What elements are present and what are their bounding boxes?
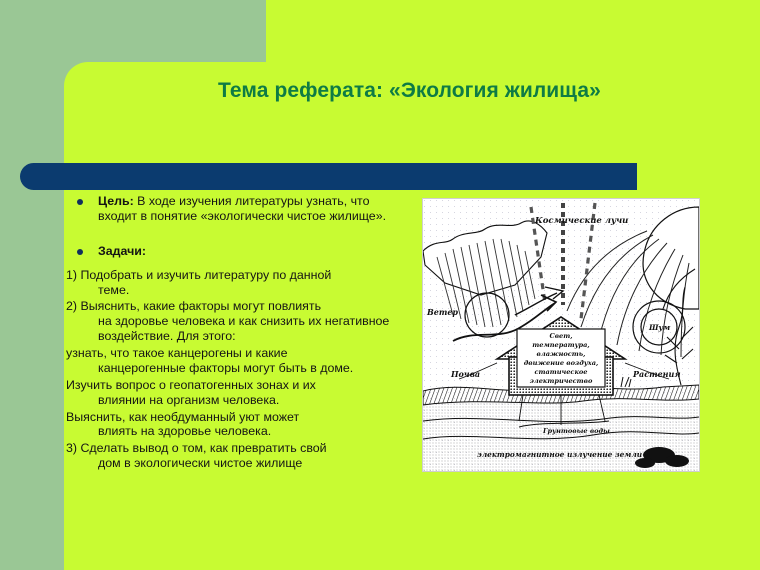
task-item-6-rest: дом в экологически чистое жилище <box>66 456 411 471</box>
goal-bullet-item: Цель: В ходе изучения литературы узнать,… <box>66 194 411 224</box>
svg-text:Свет,: Свет, <box>549 332 572 340</box>
tasks-bullet-item: Задачи: <box>66 244 411 259</box>
task-item-1-rest: теме. <box>66 283 411 298</box>
page-title: Тема реферата: «Экология жилища» <box>218 78 648 105</box>
task-item-3: узнать, что такое канцерогены и какие ка… <box>66 346 411 376</box>
tasks-label: Задачи: <box>98 244 146 258</box>
label-cosmic-rays: Космические лучи <box>534 216 628 226</box>
task-item-3-first: узнать, что такое канцерогены и какие <box>66 346 287 360</box>
slide-root: Тема реферата: «Экология жилища» Цель: В… <box>0 0 760 570</box>
task-item-1: 1) Подобрать и изучить литературу по дан… <box>66 268 411 298</box>
ecology-diagram-svg: Космические лучи Ветер Шум <box>423 199 699 471</box>
task-item-5-first: Выяснить, как необдуманный уют может <box>66 410 299 424</box>
label-wind: Ветер <box>426 307 458 317</box>
task-item-4-rest: влиянии на организм человека. <box>66 393 411 408</box>
task-item-6-first: 3) Сделать вывод о том, как превратить с… <box>66 441 327 455</box>
svg-text:статическое: статическое <box>534 368 587 376</box>
task-item-6: 3) Сделать вывод о том, как превратить с… <box>66 441 411 471</box>
task-item-4: Изучить вопрос о геопатогенных зонах и и… <box>66 378 411 408</box>
svg-text:электричество: электричество <box>530 377 593 385</box>
label-soil: Почва <box>450 369 480 379</box>
goal-text: В ходе изучения литературы узнать, что в… <box>98 194 386 223</box>
task-item-2-first: 2) Выяснить, какие факторы могут повлият… <box>66 299 321 313</box>
body-text-column: Цель: В ходе изучения литературы узнать,… <box>66 194 411 473</box>
task-item-1-first: 1) Подобрать и изучить литературу по дан… <box>66 268 331 282</box>
task-item-5-rest: влиять на здоровье человека. <box>66 424 411 439</box>
task-item-2-rest: на здоровье человека и как снизить их не… <box>66 314 411 344</box>
bullet-dot-icon <box>77 199 83 205</box>
background-sage-block <box>0 0 266 62</box>
task-item-5: Выяснить, как необдуманный уют может вли… <box>66 410 411 440</box>
task-item-2: 2) Выяснить, какие факторы могут повлият… <box>66 299 411 344</box>
task-item-4-first: Изучить вопрос о геопатогенных зонах и и… <box>66 378 316 392</box>
ecology-diagram-image: Космические лучи Ветер Шум <box>422 198 700 472</box>
svg-text:движение воздуха,: движение воздуха, <box>524 359 599 367</box>
task-item-3-rest: канцерогенные факторы могут быть в доме. <box>66 361 411 376</box>
title-divider-bar <box>20 163 637 190</box>
svg-text:температура,: температура, <box>532 341 589 349</box>
label-ground-water: Грунтовые воды <box>542 427 610 435</box>
svg-text:влажность,: влажность, <box>537 350 586 358</box>
panel-top-strip <box>266 0 760 63</box>
goal-label: Цель: <box>98 194 134 208</box>
label-noise: Шум <box>648 323 670 332</box>
label-plants: Растения <box>632 369 681 379</box>
bullet-dot-icon <box>77 249 83 255</box>
section-spacer <box>66 233 411 244</box>
label-earth-radiation: электромагнитное излучение земли <box>477 450 642 459</box>
